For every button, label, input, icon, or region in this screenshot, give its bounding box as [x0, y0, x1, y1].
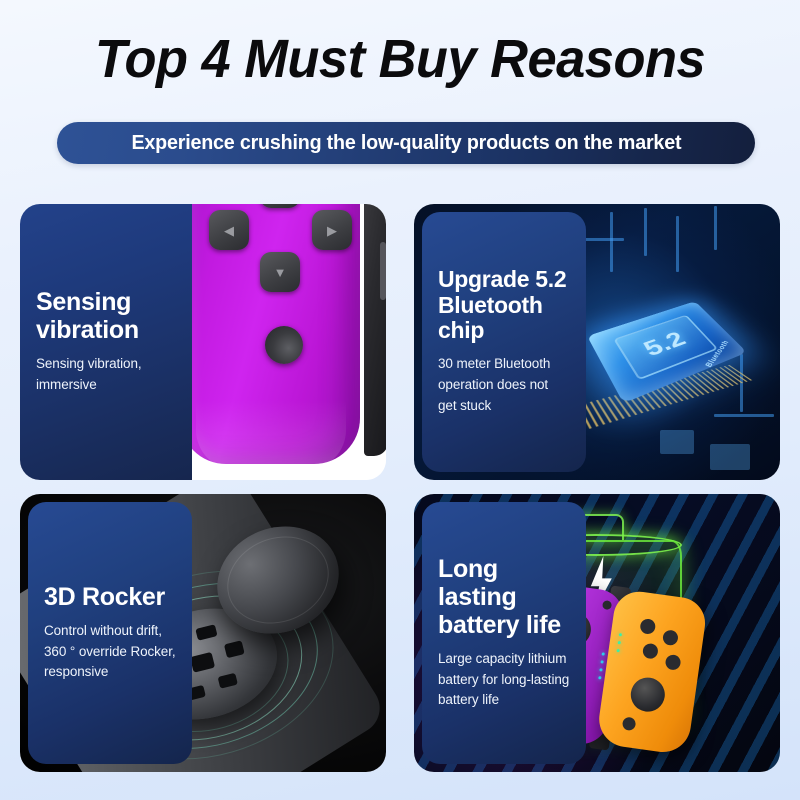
card-description: Large capacity lithium battery for long-…: [438, 649, 570, 712]
page-title: Top 4 Must Buy Reasons: [12, 28, 788, 90]
joycon-rail: [364, 204, 386, 456]
card-description: Control without drift, 360 ° override Ro…: [44, 621, 176, 684]
dpad-left-icon: ◀: [209, 210, 249, 250]
card-title: Long lasting battery life: [438, 555, 570, 639]
feature-card-battery-life[interactable]: Long lasting battery life Large capacity…: [414, 494, 780, 772]
card-text-panel: 3D Rocker Control without drift, 360 ° o…: [28, 502, 192, 764]
card-text-panel: Sensing vibration Sensing vibration, imm…: [20, 204, 192, 480]
feature-card-grid: ▲ ◀ ▶ ▼ Sensing vibration Sensing vibrat…: [20, 204, 780, 772]
subtitle-text: Experience crushing the low-quality prod…: [131, 131, 681, 155]
card-text-panel: Upgrade 5.2 Bluetooth chip 30 meter Blue…: [422, 212, 586, 472]
dpad-down-icon: ▼: [260, 252, 300, 292]
capture-button-icon: [265, 326, 303, 364]
feature-card-bluetooth-chip[interactable]: 5.2 Bluetooth Upgrade 5.2 Bluetooth chip…: [414, 204, 780, 480]
feature-card-sensing-vibration[interactable]: ▲ ◀ ▶ ▼ Sensing vibration Sensing vibrat…: [20, 204, 386, 480]
card-title: Sensing vibration: [36, 288, 176, 344]
card-text-panel: Long lasting battery life Large capacity…: [422, 502, 586, 764]
chip-version-label: 5.2: [639, 328, 692, 362]
card-title: 3D Rocker: [44, 583, 176, 611]
card-title: Upgrade 5.2 Bluetooth chip: [438, 267, 570, 344]
card-description: Sensing vibration, immersive: [36, 354, 176, 396]
chip-face: 5.2: [613, 315, 718, 381]
subtitle-banner: Experience crushing the low-quality prod…: [57, 122, 755, 164]
dpad-right-icon: ▶: [312, 210, 352, 250]
joycon-sheen: [196, 400, 346, 470]
feature-card-3d-rocker[interactable]: 3D Rocker Control without drift, 360 ° o…: [20, 494, 386, 772]
card-description: 30 meter Bluetooth operation does not ge…: [438, 354, 570, 417]
